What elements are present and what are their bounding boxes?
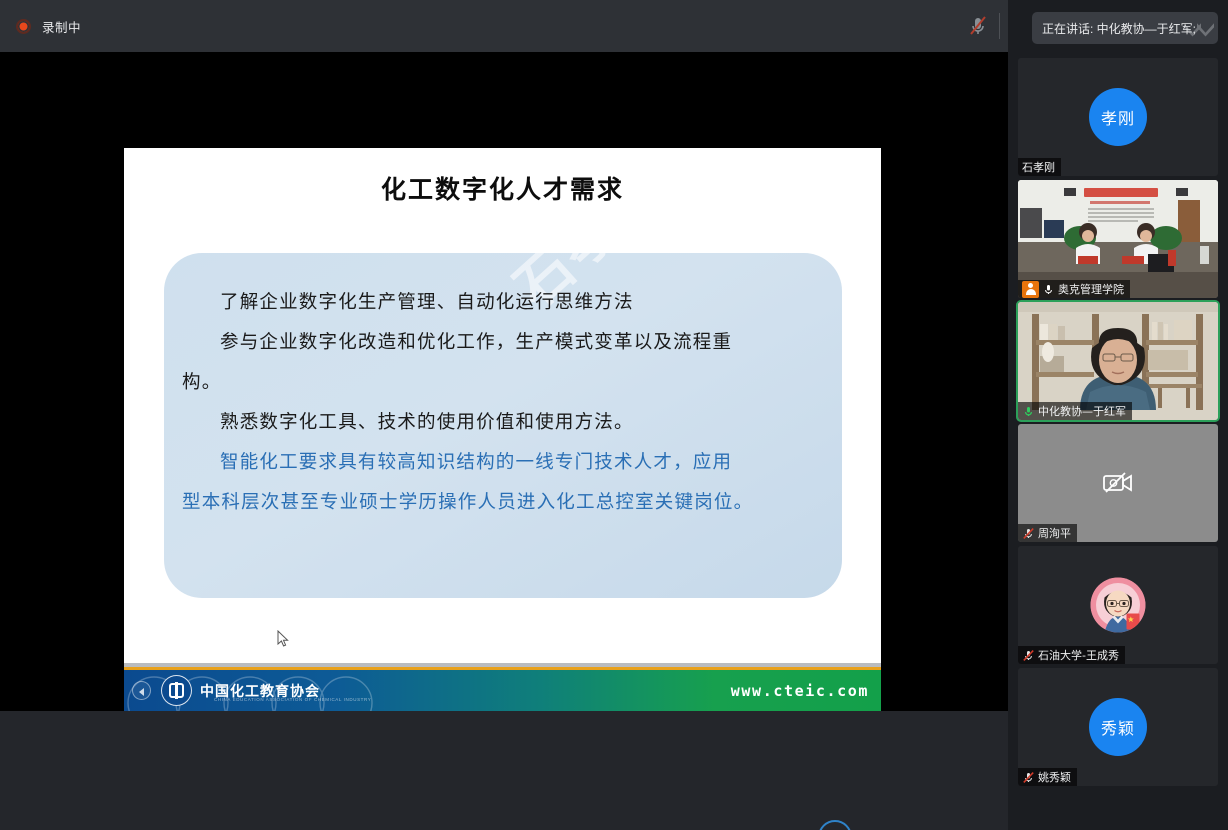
participant-name: 周洵平 [1038,525,1071,541]
participant-name-tag: 石孝刚 [1018,158,1061,176]
recording-label: 录制中 [42,17,81,36]
participant-tile-active-speaker[interactable]: 中化教协—于红军 [1018,302,1218,420]
slide-body-panel: 石孝刚+861796395788 了解企业数字化生产管理、自动化运行思维方法 参… [164,253,842,598]
avatar: 孝刚 [1089,88,1147,146]
mouse-pointer-icon [277,630,289,648]
microphone-muted-icon [1022,771,1035,784]
top-bar-right-group [965,13,1008,39]
active-speaker-pill[interactable]: 正在讲话: 中化教协—于红军; [1032,12,1218,44]
bottom-toolbar-area [0,711,1008,830]
avatar: 秀颖 [1089,698,1147,756]
participant-name: 奥克管理学院 [1058,281,1124,297]
top-bar-divider [999,13,1000,39]
slide-line: 型本科层次甚至专业硕士学历操作人员进入化工总控室关键岗位。 [182,483,824,523]
participant-name-tag: 奥克管理学院 [1018,280,1130,298]
recording-indicator[interactable]: 录制中 [16,17,81,36]
chevron-down-icon[interactable] [1188,12,1214,44]
microphone-muted-icon [1022,649,1035,662]
shared-screen-stage[interactable]: 化工数字化人才需求 石孝刚+861796395788 了解企业数字化生产管理、自… [0,52,1008,711]
footer-bar: 中国化工教育协会 CHINA EDUCATION ASSOCIATION OF … [124,670,881,711]
back-arrow-icon[interactable] [132,681,151,700]
participant-name-tag: 中化教协—于红军 [1018,402,1132,420]
recording-dot-icon [16,19,31,34]
association-name: 中国化工教育协会 [200,681,320,701]
participant-name: 姚秀颖 [1038,769,1071,785]
slide-footer: 中国化工教育协会 CHINA EDUCATION ASSOCIATION OF … [124,663,881,711]
slide-line: 构。 [182,363,824,403]
microphone-muted-icon [1022,527,1035,540]
participant-tile[interactable]: 周洵平 [1018,424,1218,542]
slide-line: 参与企业数字化改造和优化工作，生产模式变革以及流程重 [182,323,824,363]
presentation-slide[interactable]: 化工数字化人才需求 石孝刚+861796395788 了解企业数字化生产管理、自… [124,148,881,711]
participant-video-panel[interactable]: 孝刚 石孝刚 [1008,0,1228,830]
slide-title: 化工数字化人才需求 [124,170,881,206]
slide-line: 了解企业数字化生产管理、自动化运行思维方法 [182,283,824,323]
association-logo-icon [161,675,192,706]
microphone-muted-icon[interactable] [965,13,991,39]
participant-icon [1022,281,1039,298]
participant-name-tag: 姚秀颖 [1018,768,1077,786]
active-speaker-text: 正在讲话: 中化教协—于红军; [1042,20,1196,37]
participant-tile[interactable]: 孝刚 石孝刚 [1018,58,1218,176]
participant-name-tag: 周洵平 [1018,524,1077,542]
participant-name: 中化教协—于红军 [1038,403,1126,419]
participant-name: 石孝刚 [1022,159,1055,175]
microphone-active-icon [1022,405,1035,418]
top-bar: 录制中 [0,0,1008,52]
slide-line: 智能化工要求具有较高知识结构的一线专门技术人才，应用 [182,443,824,483]
association-url: www.cteic.com [731,682,869,700]
camera-off-icon [1103,472,1133,494]
participant-tile[interactable]: 秀颖 姚秀颖 [1018,668,1218,786]
participant-tile[interactable]: 奥克管理学院 [1018,180,1218,298]
participant-name: 石油大学-王成秀 [1038,647,1119,663]
participant-name-tag: 石油大学-王成秀 [1018,646,1125,664]
meeting-app-window: 录制中 正在讲话: 中化教协—于红军; 化工数字化人才需求 石孝 [0,0,1228,830]
slide-line: 熟悉数字化工具、技术的使用价值和使用方法。 [182,403,824,443]
avatar [1091,578,1146,633]
participant-tile[interactable]: 石油大学-王成秀 [1018,546,1218,664]
microphone-icon [1042,283,1055,296]
